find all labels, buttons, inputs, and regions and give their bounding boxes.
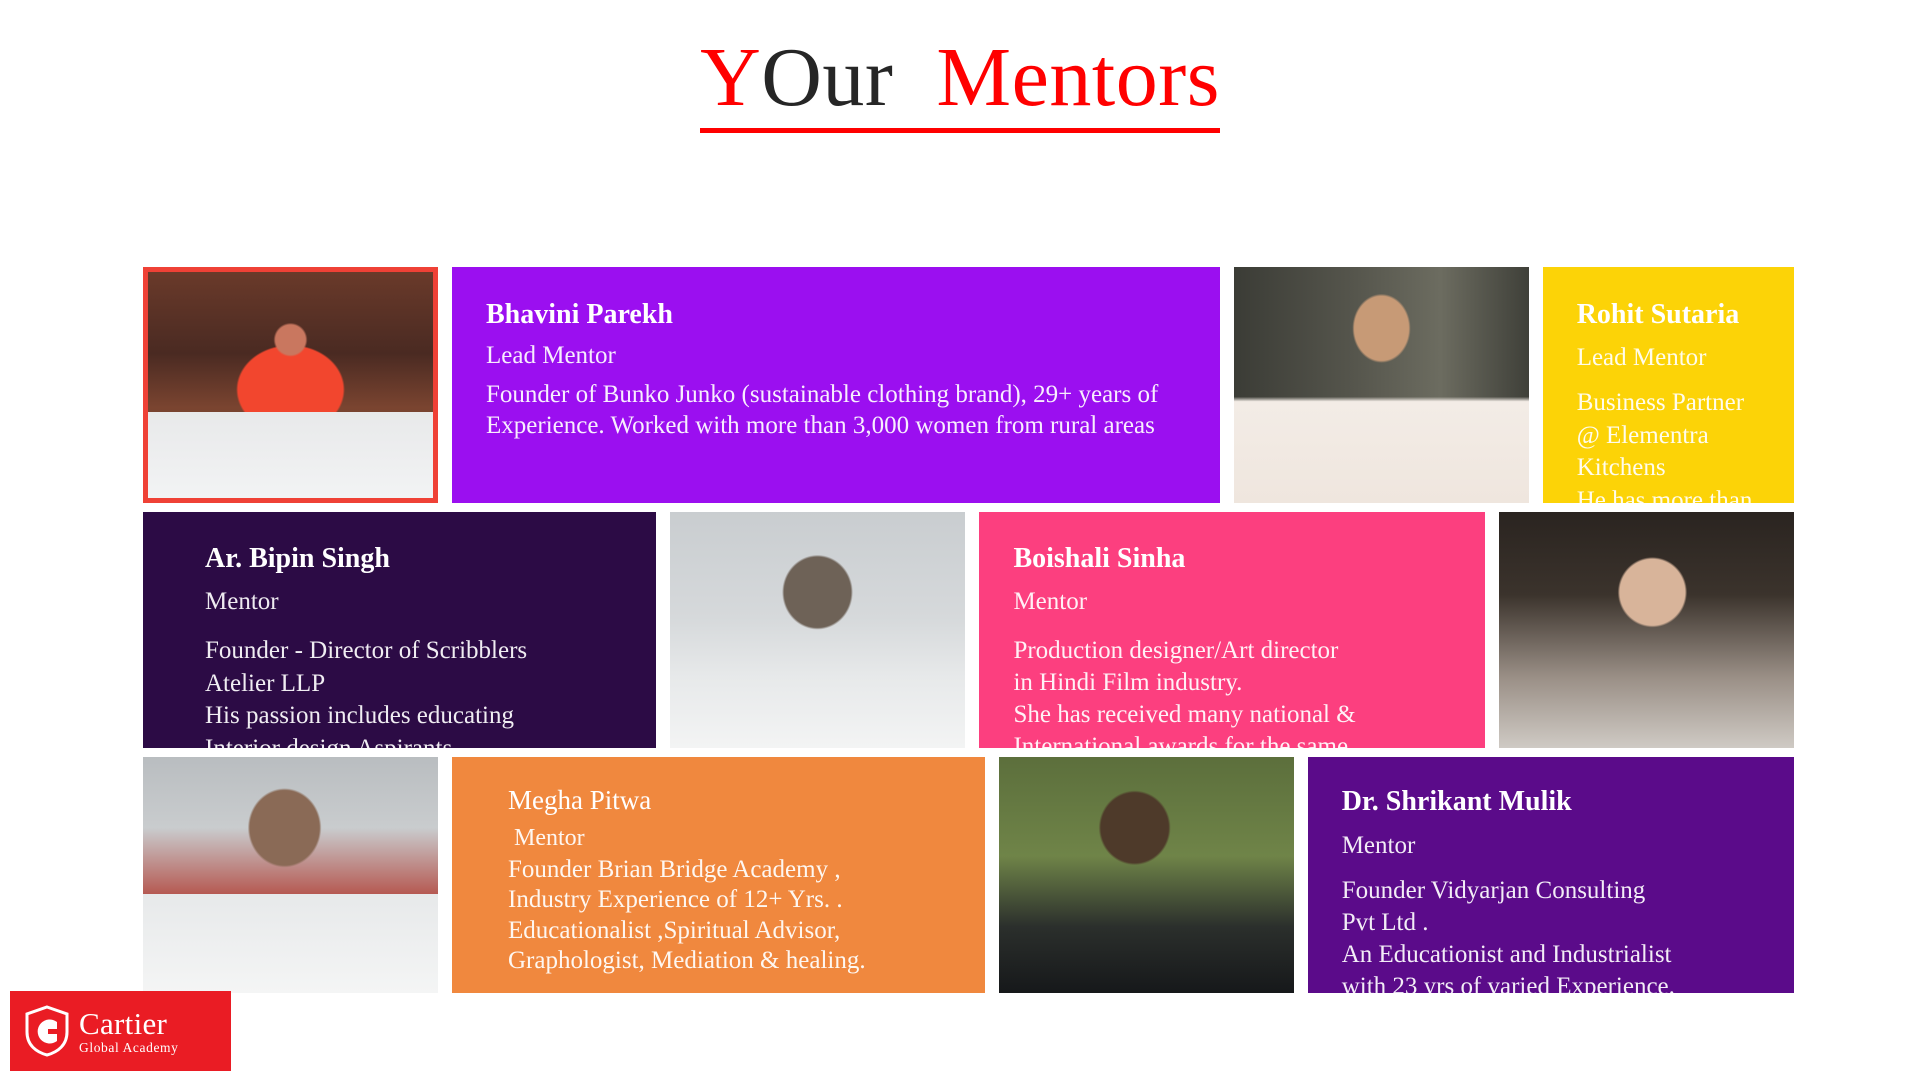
rohit-sutaria-photo-image — [1234, 267, 1529, 503]
mentor-name: Boishali Sinha — [1013, 541, 1459, 576]
mentor-role: Mentor — [1342, 831, 1768, 861]
mentor-card-bipin-singh: Ar. Bipin Singh Mentor Founder - Directo… — [143, 512, 656, 748]
boishali-sinha-photo — [1499, 512, 1794, 748]
megha-pitwa-photo-image — [143, 757, 438, 993]
mentor-card-megha-pitwa: Megha Pitwa Mentor Founder Brian Bridge … — [452, 757, 985, 993]
mentor-card-rohit-sutaria: Rohit Sutaria Lead Mentor Business Partn… — [1543, 267, 1794, 503]
shrikant-mulik-photo-image — [999, 757, 1294, 993]
page-title-container: YOur Mentors — [0, 34, 1920, 133]
mentor-description: Founder of Bunko Junko (sustainable clot… — [486, 380, 1194, 441]
mentor-name: Ar. Bipin Singh — [205, 541, 630, 576]
megha-pitwa-photo — [143, 757, 438, 993]
page-title-gap — [893, 31, 936, 124]
mentor-card-shrikant-mulik: Dr. Shrikant Mulik Mentor Founder Vidyar… — [1308, 757, 1794, 993]
cartier-global-academy-logo: Cartier Global Academy — [10, 991, 231, 1071]
mentor-role: Lead Mentor — [486, 341, 1194, 371]
bipin-singh-photo — [670, 512, 965, 748]
page-title-part-y: Y — [700, 31, 761, 124]
mentor-description: Production designer/Art director in Hind… — [1013, 635, 1459, 748]
rohit-sutaria-photo — [1234, 267, 1529, 503]
page-title: YOur Mentors — [700, 34, 1220, 133]
mentor-name: Rohit Sutaria — [1577, 297, 1768, 332]
mentor-name: Bhavini Parekh — [486, 297, 1194, 332]
mentor-description: Founder - Director of Scribblers Atelier… — [205, 635, 630, 748]
logo-text: Cartier Global Academy — [79, 1008, 179, 1055]
mentor-row-2: Ar. Bipin Singh Mentor Founder - Directo… — [143, 512, 1794, 748]
bhavini-parekh-photo-image — [143, 267, 438, 503]
shield-c-monogram-icon — [24, 1005, 70, 1057]
logo-subtitle: Global Academy — [79, 1041, 179, 1055]
mentor-card-boishali-sinha: Boishali Sinha Mentor Production designe… — [979, 512, 1485, 748]
mentor-name: Megha Pitwa — [508, 784, 959, 818]
shrikant-mulik-photo — [999, 757, 1294, 993]
logo-title: Cartier — [79, 1008, 179, 1039]
mentor-role: Mentor — [508, 824, 959, 853]
bipin-singh-photo-image — [670, 512, 965, 748]
mentor-description: Founder Vidyarjan Consulting Pvt Ltd . A… — [1342, 875, 1768, 993]
page-title-part-our: Our — [761, 31, 893, 124]
mentor-name: Dr. Shrikant Mulik — [1342, 784, 1768, 819]
mentors-grid: Bhavini Parekh Lead Mentor Founder of Bu… — [143, 267, 1794, 1002]
mentor-description: Business Partner @ Elementra Kitchens He… — [1577, 387, 1768, 503]
mentor-card-bhavini-parekh: Bhavini Parekh Lead Mentor Founder of Bu… — [452, 267, 1220, 503]
mentor-role: Lead Mentor — [1577, 343, 1768, 373]
mentor-role: Mentor — [205, 587, 630, 617]
mentor-row-3: Megha Pitwa Mentor Founder Brian Bridge … — [143, 757, 1794, 993]
boishali-sinha-photo-image — [1499, 512, 1794, 748]
mentor-row-1: Bhavini Parekh Lead Mentor Founder of Bu… — [143, 267, 1794, 503]
page-title-part-mentors: Mentors — [936, 31, 1219, 124]
bhavini-parekh-photo — [143, 267, 438, 503]
mentor-description: Founder Brian Bridge Academy , Industry … — [508, 855, 959, 977]
mentor-role: Mentor — [1013, 587, 1459, 617]
